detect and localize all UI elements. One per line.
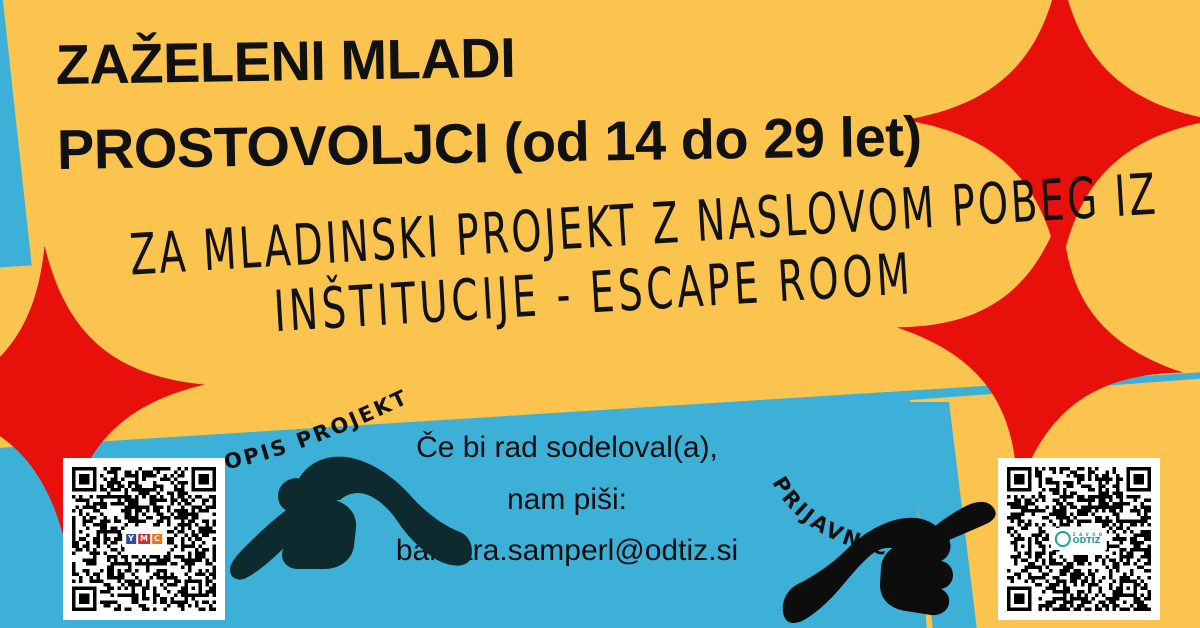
odtiz-logo-icon: [1055, 531, 1071, 547]
qr-logo-chip-3: C: [152, 534, 162, 544]
qr-logo-chip-2: M: [138, 534, 150, 544]
headline: ZAŽELENI MLADI PROSTOVOLJCI (od 14 do 29…: [55, 7, 1018, 192]
headline-line-1: ZAŽELENI MLADI: [55, 7, 1016, 107]
poster-canvas: ZAŽELENI MLADI PROSTOVOLJCI (od 14 do 29…: [0, 0, 1200, 628]
qr-code-prijavnica[interactable]: Z A V O D ODTIZ: [998, 458, 1160, 620]
qr-logo-title: ODTIZ: [1073, 536, 1101, 545]
qr-logo-left: Y M C: [122, 531, 166, 547]
pointing-hand-right-icon: [778, 484, 998, 628]
qr-logo-right: Z A V O D ODTIZ: [1051, 528, 1107, 550]
pointing-hand-left-icon: [228, 448, 478, 588]
qr-code-opis-projekta[interactable]: Y M C: [63, 458, 225, 620]
qr-logo-chip-1: Y: [126, 534, 136, 544]
